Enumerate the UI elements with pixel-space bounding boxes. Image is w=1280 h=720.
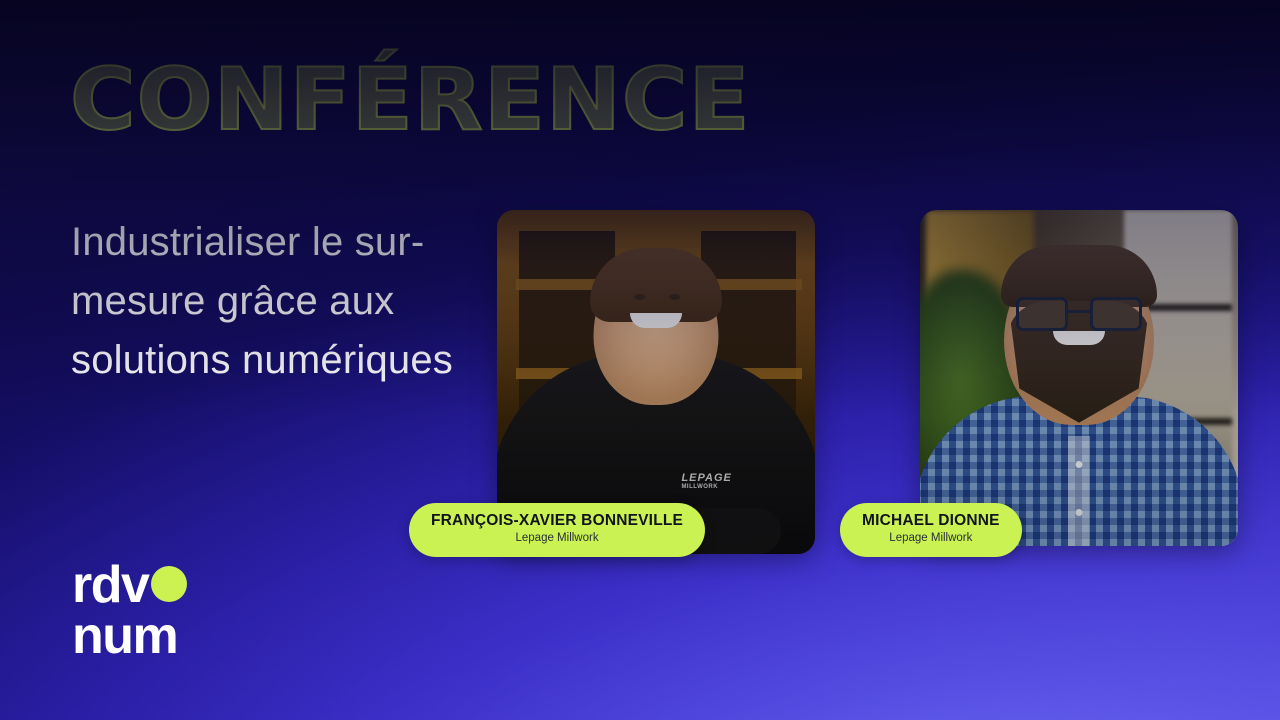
conference-headline: Industrialiser le sur-mesure grâce aux s… [71,213,461,389]
page-title: CONFÉRENCE [70,57,751,143]
speaker-card-2 [920,210,1238,546]
eyeglasses-icon [1016,297,1142,331]
logo-line-2: num [72,611,187,662]
glasses-bridge [1068,310,1090,313]
logo-text-num: num [72,611,177,662]
shirt-brand-name: LEPAGE [681,472,731,484]
speaker-smile [1053,331,1105,345]
speaker-smile [630,313,682,328]
speaker-company: Lepage Millwork [862,532,1000,546]
glasses-lens-right [1090,297,1142,331]
speaker-name: FRANÇOIS-XAVIER BONNEVILLE [431,512,683,530]
shirt-placket [1068,436,1090,546]
speaker-company: Lepage Millwork [431,532,683,546]
shirt-brand-logo: LEPAGE MILLWORK [681,472,731,490]
speaker-name-badge-1: FRANÇOIS-XAVIER BONNEVILLE Lepage Millwo… [409,503,705,557]
slide-background: CONFÉRENCE Industrialiser le sur-mesure … [0,0,1280,720]
logo-dot-icon [151,566,187,602]
shirt-button [1076,509,1083,516]
speaker-photo-2 [920,210,1238,546]
shirt-brand-sub: MILLWORK [681,484,731,490]
glasses-lens-left [1016,297,1068,331]
logo-line-1: rdv [72,560,187,611]
rdvnum-logo: rdv num [72,560,187,662]
shirt-button [1076,461,1083,468]
speaker-name-badge-2: MICHAEL DIONNE Lepage Millwork [840,503,1022,557]
logo-text-rdv: rdv [72,560,148,611]
speaker-name: MICHAEL DIONNE [862,512,1000,530]
